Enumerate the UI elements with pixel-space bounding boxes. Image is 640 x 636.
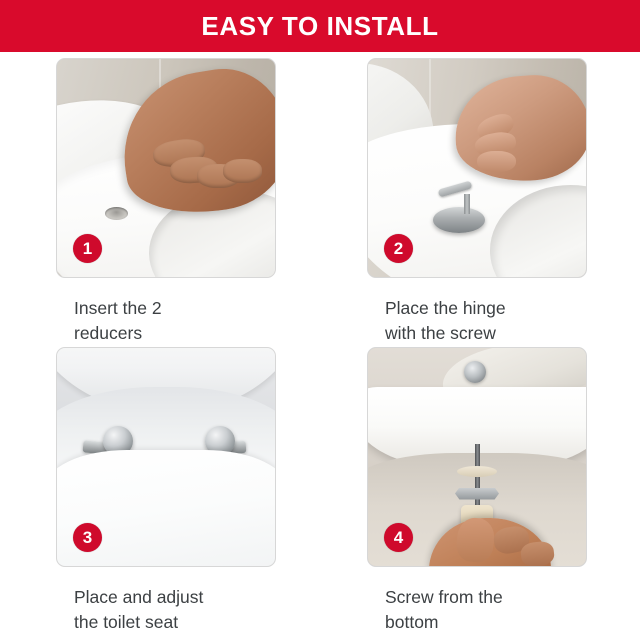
step-1-photo: 1: [56, 58, 276, 278]
finger: [223, 159, 262, 183]
step-1-caption: Insert the 2 reducers: [56, 296, 288, 347]
finger: [477, 151, 516, 173]
page-title: EASY TO INSTALL: [201, 13, 438, 39]
install-steps-grid: 1 Insert the 2 reducers: [0, 52, 640, 625]
step-2-photo: 2: [367, 58, 587, 278]
wing-nut: [455, 488, 499, 500]
step-2-caption: Place the hinge with the screw: [367, 296, 599, 347]
step-4: 4 Screw from the bottom: [367, 347, 599, 636]
step-3-badge: 3: [73, 523, 102, 552]
step-4-caption: Screw from the bottom: [367, 585, 599, 636]
step-4-photo: 4: [367, 347, 587, 567]
step-4-badge: 4: [384, 523, 413, 552]
step-3: 3 Place and adjust the toilet seat: [56, 347, 288, 636]
step-3-caption: Place and adjust the toilet seat: [56, 585, 288, 636]
step-2-badge: 2: [384, 234, 413, 263]
installed-hinge-post: [464, 194, 470, 214]
header-banner: EASY TO INSTALL: [0, 0, 640, 52]
hinge-top: [464, 361, 486, 383]
upper-washer: [457, 466, 497, 477]
step-1-badge: 1: [73, 234, 102, 263]
step-3-photo: 3: [56, 347, 276, 567]
finger: [519, 540, 554, 567]
step-2: 2 Place the hinge with the screw: [367, 58, 599, 347]
step-1: 1 Insert the 2 reducers: [56, 58, 288, 347]
